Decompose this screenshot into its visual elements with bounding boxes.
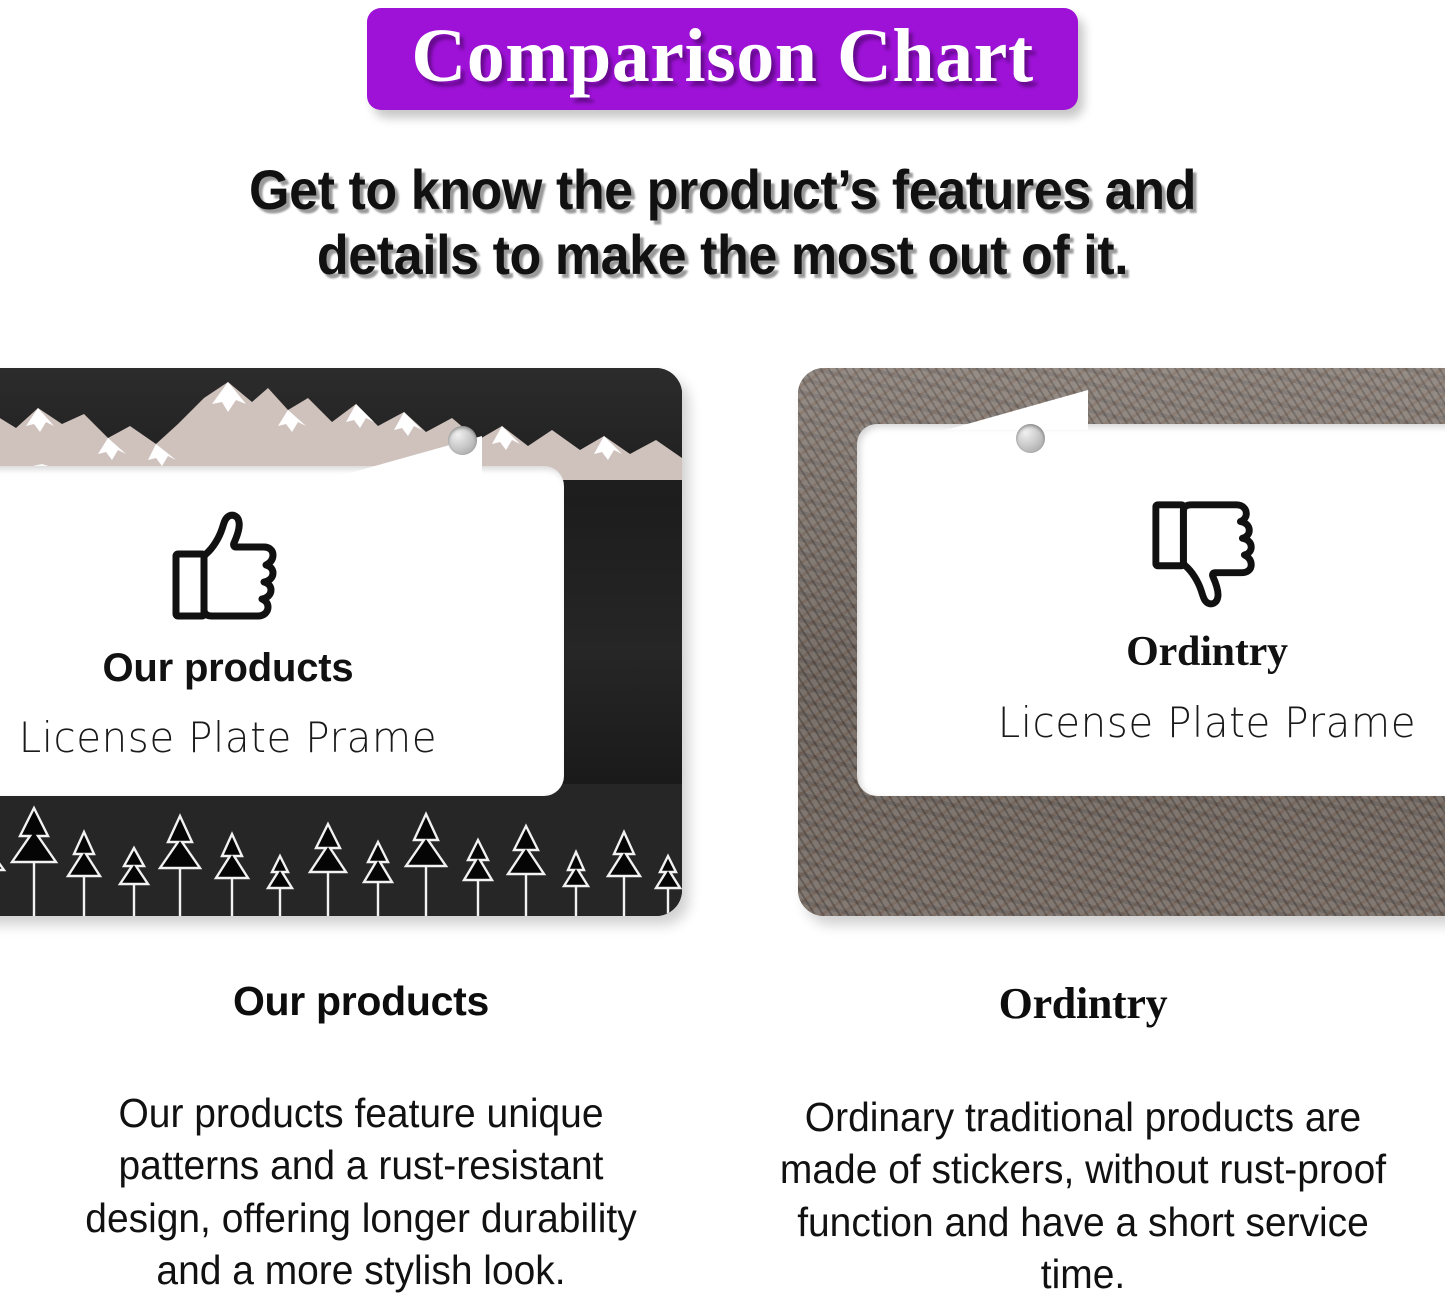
column-body-ours: Our products feature unique patterns and… xyxy=(54,1087,668,1297)
column-body-ordinary: Ordinary traditional products are made o… xyxy=(776,1091,1390,1301)
frame-sublabel-ours: License Plate Prame xyxy=(19,713,437,762)
column-heading-ours: Our products xyxy=(38,978,684,1025)
frame-label-ordinary: Ordintry xyxy=(1126,628,1288,676)
column-our-products: Our products Our products feature unique… xyxy=(0,978,722,1301)
screw-hole-icon-right xyxy=(1016,424,1045,453)
thumbs-up-icon xyxy=(168,510,288,628)
subtitle-line-2: details to make the most out of it. xyxy=(51,223,1395,288)
thumbs-down-icon xyxy=(1148,492,1266,610)
plate-window-right: Ordintry License Plate Prame xyxy=(857,424,1445,796)
subtitle-line-1: Get to know the product’s features and xyxy=(51,158,1395,223)
page-subtitle: Get to know the product’s features and d… xyxy=(51,158,1395,288)
column-heading-ordinary: Ordintry xyxy=(760,978,1406,1029)
page-title: Comparison Chart xyxy=(411,18,1033,94)
frame-label-ours: Our products xyxy=(103,646,354,691)
title-banner-wrapper: Comparison Chart xyxy=(0,8,1445,110)
column-ordinary: Ordintry Ordinary traditional products a… xyxy=(722,978,1444,1301)
plate-window-left: Our products License Plate Prame xyxy=(0,466,564,796)
ordinary-product-frame-image: Ordintry License Plate Prame xyxy=(798,368,1445,916)
our-product-frame-image: Our products License Plate Prame xyxy=(0,368,682,916)
title-banner: Comparison Chart xyxy=(367,8,1077,110)
frame-sublabel-ordinary: License Plate Prame xyxy=(998,698,1416,747)
comparison-columns: Our products Our products feature unique… xyxy=(0,978,1445,1301)
screw-hole-icon-left xyxy=(448,426,477,455)
product-frames-row: Our products License Plate Prame Ordintr… xyxy=(0,352,1445,932)
pine-tree-graphic xyxy=(0,784,682,916)
